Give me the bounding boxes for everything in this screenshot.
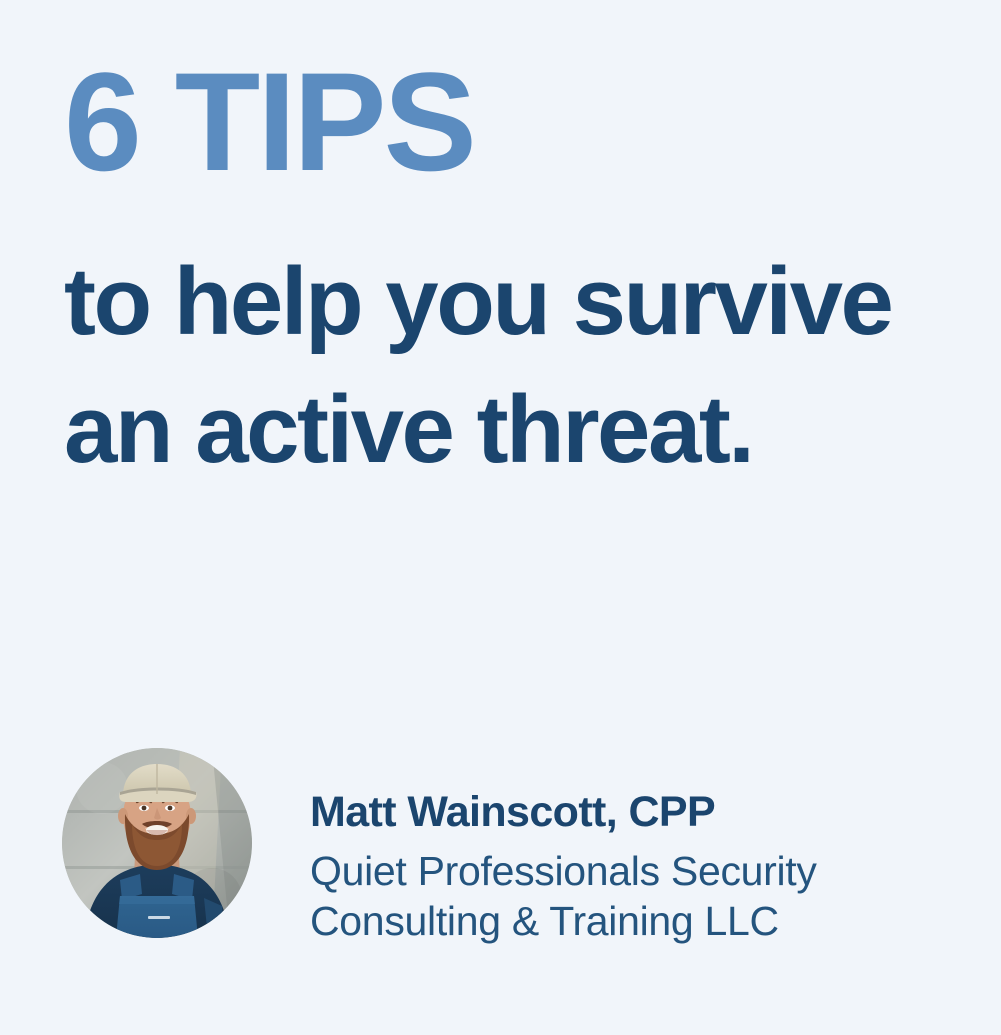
author-name: Matt Wainscott, CPP [310, 786, 930, 838]
author-company: Quiet Professionals Security Consulting … [310, 846, 930, 946]
author-company-line-1: Quiet Professionals Security [310, 846, 930, 896]
author-company-line-2: Consulting & Training LLC [310, 896, 930, 946]
avatar [62, 748, 252, 938]
title-line-1: to help you survive [64, 238, 984, 366]
eyebrow-heading: 6 TIPS [64, 52, 964, 192]
promo-slide: 6 TIPS to help you survive an active thr… [0, 0, 1001, 1035]
avatar-portrait-icon [62, 748, 252, 938]
author-block: Matt Wainscott, CPP Quiet Professionals … [62, 748, 942, 948]
author-text: Matt Wainscott, CPP Quiet Professionals … [310, 786, 930, 946]
headline-block: 6 TIPS [64, 52, 964, 192]
page-title: to help you survive an active threat. [64, 238, 984, 494]
title-line-2: an active threat. [64, 366, 984, 494]
